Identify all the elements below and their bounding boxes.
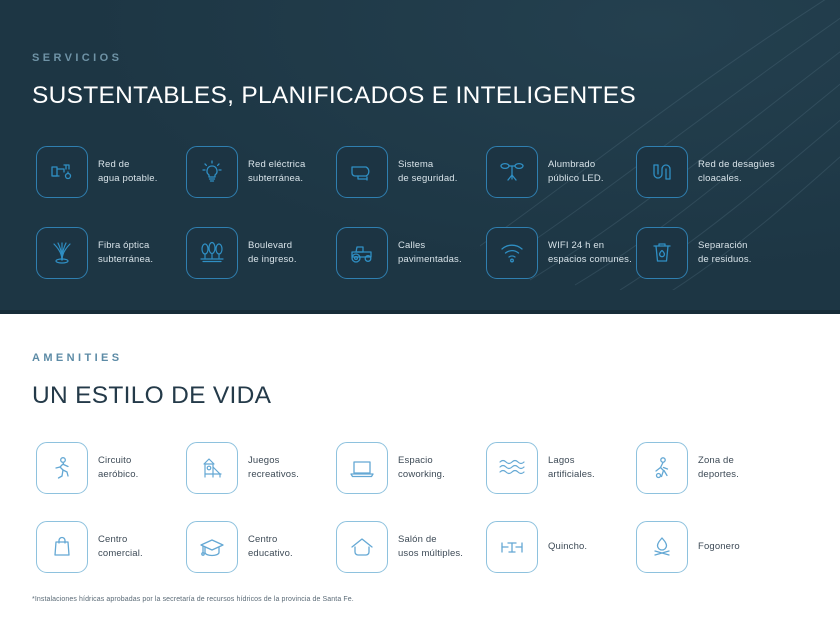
wifi-icon xyxy=(486,227,538,279)
sports-player-icon xyxy=(636,442,688,494)
amenity-label: Fogonero xyxy=(698,540,740,554)
service-item-separacion-de-residuos[interactable]: Separación de residuos. xyxy=(636,227,786,279)
service-item-wifi-espacios-comunes[interactable]: WIFI 24 h en espacios comunes. xyxy=(486,227,636,279)
amenities-headline: UN ESTILO DE VIDA xyxy=(32,382,271,410)
amenities-eyebrow: AMENITIES xyxy=(32,352,271,364)
service-label: Red eléctrica subterránea. xyxy=(248,158,305,186)
fiber-optic-icon xyxy=(36,227,88,279)
faucet-icon xyxy=(36,146,88,198)
service-item-red-electrica-subterranea[interactable]: Red eléctrica subterránea. xyxy=(186,146,336,198)
service-label: Red de agua potable. xyxy=(98,158,158,186)
amenity-item-circuito-aerobico[interactable]: Circuito aeróbico. xyxy=(36,442,186,494)
waves-icon xyxy=(486,442,538,494)
service-label: Sistema de seguridad. xyxy=(398,158,458,186)
shopping-bag-icon xyxy=(36,521,88,573)
service-label: Fibra óptica subterránea. xyxy=(98,239,153,267)
service-label: Calles pavimentadas. xyxy=(398,239,462,267)
amenities-header: AMENITIES UN ESTILO DE VIDA xyxy=(32,352,271,410)
amenity-item-centro-comercial[interactable]: Centro comercial. xyxy=(36,521,186,573)
amenity-label: Juegos recreativos. xyxy=(248,454,299,482)
service-item-alumbrado-publico-led[interactable]: Alumbrado público LED. xyxy=(486,146,636,198)
services-grid-row-1: Red de agua potable. Red eléctrica subte… xyxy=(36,146,786,198)
house-icon xyxy=(336,521,388,573)
tractor-icon xyxy=(336,227,388,279)
amenity-item-salon-usos-multiples[interactable]: Salón de usos múltiples. xyxy=(336,521,486,573)
service-label: Boulevard de ingreso. xyxy=(248,239,297,267)
service-item-boulevard-de-ingreso[interactable]: Boulevard de ingreso. xyxy=(186,227,336,279)
graduation-cap-icon xyxy=(186,521,238,573)
service-item-calles-pavimentadas[interactable]: Calles pavimentadas. xyxy=(336,227,486,279)
boulevard-trees-icon xyxy=(186,227,238,279)
trash-recycle-icon xyxy=(636,227,688,279)
services-grid-row-2: Fibra óptica subterránea. Boulevard de i… xyxy=(36,227,786,279)
drain-pipe-icon xyxy=(636,146,688,198)
service-label: Separación de residuos. xyxy=(698,239,752,267)
amenity-item-quincho[interactable]: Quincho. xyxy=(486,521,636,573)
playground-icon xyxy=(186,442,238,494)
street-lamp-icon xyxy=(486,146,538,198)
service-label: Red de desagües cloacales. xyxy=(698,158,775,186)
amenity-label: Espacio coworking. xyxy=(398,454,445,482)
amenities-grid-row-1: Circuito aeróbico. Juegos recreativos. xyxy=(36,442,786,494)
amenity-label: Salón de usos múltiples. xyxy=(398,533,463,561)
amenity-item-lagos-artificiales[interactable]: Lagos artificiales. xyxy=(486,442,636,494)
amenity-item-fogonero[interactable]: Fogonero xyxy=(636,521,786,573)
amenity-label: Centro comercial. xyxy=(98,533,143,561)
amenities-grid-row-2: Centro comercial. Centro educativo. xyxy=(36,521,786,573)
security-camera-icon xyxy=(336,146,388,198)
amenity-label: Zona de deportes. xyxy=(698,454,739,482)
service-item-red-de-desagues-cloacales[interactable]: Red de desagües cloacales. xyxy=(636,146,786,198)
runner-icon xyxy=(36,442,88,494)
amenities-section: AMENITIES UN ESTILO DE VIDA Circuito xyxy=(0,314,840,630)
campfire-icon xyxy=(636,521,688,573)
service-label: Alumbrado público LED. xyxy=(548,158,604,186)
service-item-red-de-agua-potable[interactable]: Red de agua potable. xyxy=(36,146,186,198)
amenity-label: Circuito aeróbico. xyxy=(98,454,138,482)
amenity-item-centro-educativo[interactable]: Centro educativo. xyxy=(186,521,336,573)
amenity-label: Centro educativo. xyxy=(248,533,293,561)
amenity-item-juegos-recreativos[interactable]: Juegos recreativos. xyxy=(186,442,336,494)
laptop-icon xyxy=(336,442,388,494)
service-item-fibra-optica-subterranea[interactable]: Fibra óptica subterránea. xyxy=(36,227,186,279)
services-headline: SUSTENTABLES, PLANIFICADOS E INTELIGENTE… xyxy=(32,82,636,110)
services-section: SERVICIOS SUSTENTABLES, PLANIFICADOS E I… xyxy=(0,0,840,314)
services-header: SERVICIOS SUSTENTABLES, PLANIFICADOS E I… xyxy=(32,52,636,110)
grill-icon xyxy=(486,521,538,573)
page-root: SERVICIOS SUSTENTABLES, PLANIFICADOS E I… xyxy=(0,0,840,630)
amenity-label: Lagos artificiales. xyxy=(548,454,595,482)
amenity-item-zona-de-deportes[interactable]: Zona de deportes. xyxy=(636,442,786,494)
amenity-label: Quincho. xyxy=(548,540,587,554)
amenity-item-espacio-coworking[interactable]: Espacio coworking. xyxy=(336,442,486,494)
lightbulb-icon xyxy=(186,146,238,198)
services-eyebrow: SERVICIOS xyxy=(32,52,636,64)
service-item-sistema-de-seguridad[interactable]: Sistema de seguridad. xyxy=(336,146,486,198)
service-label: WIFI 24 h en espacios comunes. xyxy=(548,239,632,267)
footnote: *Instalaciones hídricas aprobadas por la… xyxy=(32,596,354,603)
